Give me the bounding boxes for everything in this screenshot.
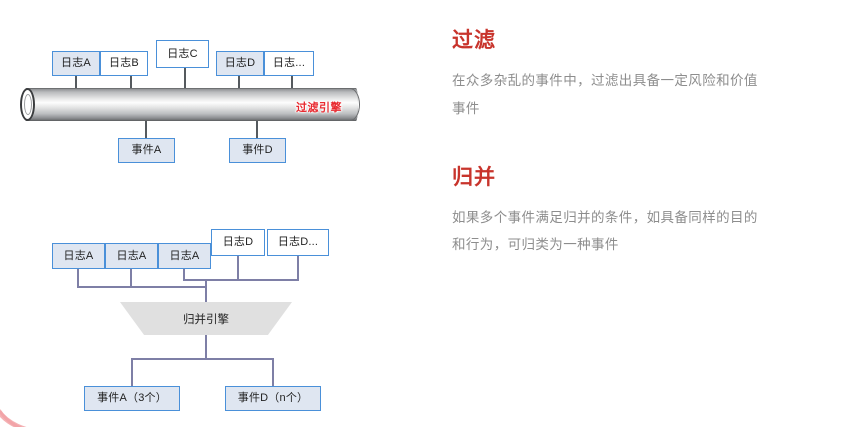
filter-log-label-1: 日志A: [61, 58, 91, 69]
merge-log-box-1[interactable]: 日志A: [52, 243, 105, 269]
section-title-filter: 过滤: [452, 28, 812, 53]
merge-log-box-3[interactable]: 日志A: [158, 243, 211, 269]
merge-log-box-4[interactable]: 日志D: [211, 229, 265, 256]
merge-log-label-2: 日志A: [117, 251, 147, 262]
filter-event-box-1[interactable]: 事件A: [118, 138, 175, 163]
merge-rail-right: [183, 279, 299, 281]
section-body-filter: 在众多杂乱的事件中，过滤出具备一定风险和价值事件: [452, 67, 770, 122]
corner-swoosh-decoration: [0, 401, 66, 427]
merge-connector-log-2: [130, 269, 132, 286]
filter-event-label-2: 事件D: [242, 145, 273, 156]
merge-engine-stem: [205, 286, 207, 302]
description-column: 过滤 在众多杂乱的事件中，过滤出具备一定风险和价值事件 归并 如果多个事件满足归…: [452, 28, 812, 259]
section-merge: 归并 如果多个事件满足归并的条件，如具备同样的目的和行为，可归类为一种事件: [452, 165, 812, 260]
merge-output-stem: [205, 335, 207, 358]
filter-log-box-1[interactable]: 日志A: [52, 51, 100, 76]
filter-pipe-right-end: [340, 88, 360, 121]
merge-rail-left: [77, 286, 207, 288]
merge-connector-log-1: [77, 269, 79, 286]
filter-event-box-2[interactable]: 事件D: [229, 138, 286, 163]
merge-output-drop-1: [131, 358, 133, 386]
filter-engine-label: 过滤引擎: [296, 99, 342, 115]
merge-log-box-5[interactable]: 日志D...: [267, 229, 329, 256]
filter-log-label-3: 日志C: [167, 49, 198, 60]
filter-log-box-5[interactable]: 日志...: [264, 51, 314, 76]
filter-log-label-5: 日志...: [273, 58, 305, 69]
section-title-merge: 归并: [452, 165, 812, 190]
merge-event-box-2[interactable]: 事件D（n个）: [225, 386, 321, 411]
merge-connector-log-3: [183, 269, 185, 279]
filter-event-label-1: 事件A: [132, 145, 162, 156]
filter-log-label-4: 日志D: [225, 58, 256, 69]
slide-canvas: 日志A 日志B 日志C 日志D 日志... 过滤引擎: [0, 0, 864, 427]
filter-log-box-2[interactable]: 日志B: [100, 51, 148, 76]
merge-output-rail: [131, 358, 274, 360]
section-body-merge: 如果多个事件满足归并的条件，如具备同样的目的和行为，可归类为一种事件: [452, 204, 770, 259]
merge-log-box-2[interactable]: 日志A: [105, 243, 158, 269]
filter-log-box-3[interactable]: 日志C: [156, 40, 209, 68]
merge-event-label-1: 事件A（3个）: [97, 393, 167, 404]
merge-log-label-1: 日志A: [64, 251, 94, 262]
filter-pipe-left-opening-inner: [24, 94, 32, 115]
merge-event-box-1[interactable]: 事件A（3个）: [84, 386, 180, 411]
merge-log-label-3: 日志A: [170, 251, 200, 262]
merge-log-label-4: 日志D: [223, 237, 254, 248]
filter-log-box-4[interactable]: 日志D: [216, 51, 264, 76]
merge-engine-shape: 归并引擎: [120, 302, 292, 335]
merge-event-label-2: 事件D（n个）: [238, 393, 308, 404]
filter-log-label-2: 日志B: [109, 58, 139, 69]
merge-connector-log-4: [237, 256, 239, 279]
merge-connector-log-5: [297, 256, 299, 279]
section-filter: 过滤 在众多杂乱的事件中，过滤出具备一定风险和价值事件: [452, 28, 812, 123]
merge-output-drop-2: [272, 358, 274, 386]
merge-engine-label: 归并引擎: [183, 311, 229, 327]
merge-log-label-5: 日志D...: [278, 237, 318, 248]
